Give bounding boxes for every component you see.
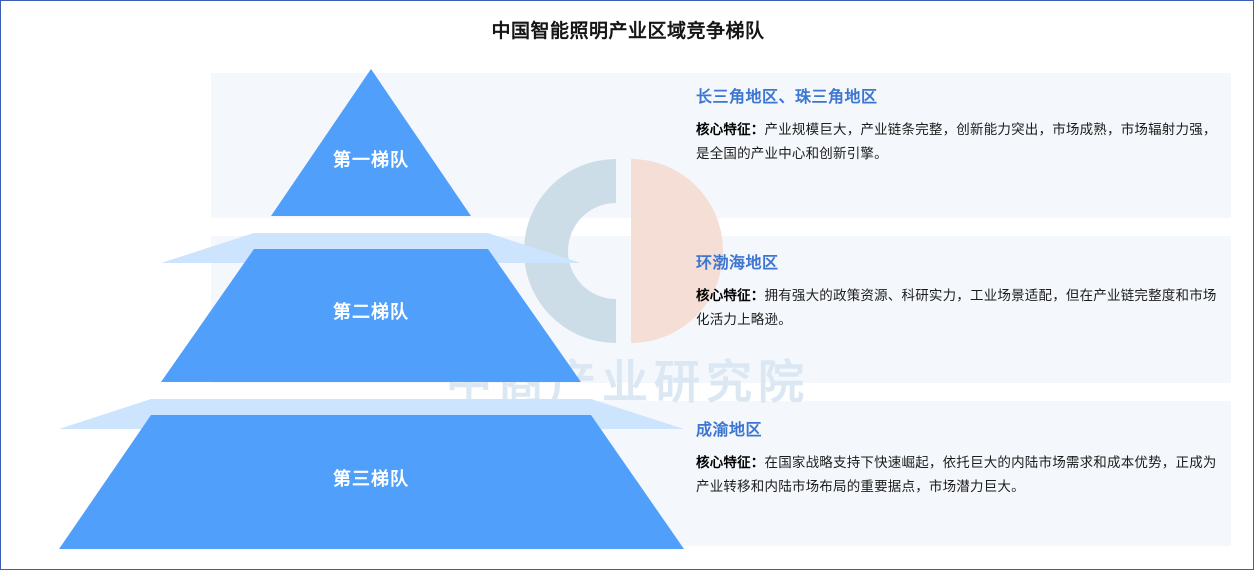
tier-3-body-text: 在国家战略支持下快速崛起，依托巨大的内陆市场需求和成本优势，正成为产业转移和内陆… [696,455,1217,494]
tier-label-3: 第三梯队 [271,465,471,491]
tier-3-lead-label: 核心特征： [696,455,765,470]
tier-3-description: 成渝地区 核心特征：在国家战略支持下快速崛起，依托巨大的内陆市场需求和成本优势，… [696,420,1221,499]
tier-1-body-text: 产业规模巨大，产业链条完整，创新能力突出，市场成熟，市场辐射力强，是全国的产业中… [696,122,1217,161]
tier-2-body: 核心特征：拥有强大的政策资源、科研实力，工业场景适配，但在产业链完整度和市场化活… [696,284,1221,332]
tier-1-body: 核心特征：产业规模巨大，产业链条完整，创新能力突出，市场成熟，市场辐射力强，是全… [696,118,1221,166]
tier-3-body: 核心特征：在国家战略支持下快速崛起，依托巨大的内陆市场需求和成本优势，正成为产业… [696,451,1221,499]
tier-2-lead-label: 核心特征： [696,288,765,303]
page-title: 中国智能照明产业区域竞争梯队 [1,19,1254,45]
tier-2-body-text: 拥有强大的政策资源、科研实力，工业场景适配，但在产业链完整度和市场化活力上略逊。 [696,288,1217,327]
tier-1-region-heading: 长三角地区、珠三角地区 [696,87,1221,109]
tier-2-description: 环渤海地区 核心特征：拥有强大的政策资源、科研实力，工业场景适配，但在产业链完整… [696,253,1221,332]
tier-label-1: 第一梯队 [271,146,471,172]
tier-1-description: 长三角地区、珠三角地区 核心特征：产业规模巨大，产业链条完整，创新能力突出，市场… [696,87,1221,166]
tier-2-region-heading: 环渤海地区 [696,253,1221,275]
infographic-canvas: 中国智能照明产业区域竞争梯队 中商产业研究院 第一梯队 第二梯队 第三梯队 长三… [0,0,1254,570]
tier-3-region-heading: 成渝地区 [696,420,1221,442]
tier-label-2: 第二梯队 [271,298,471,324]
tier-1-lead-label: 核心特征： [696,122,765,137]
